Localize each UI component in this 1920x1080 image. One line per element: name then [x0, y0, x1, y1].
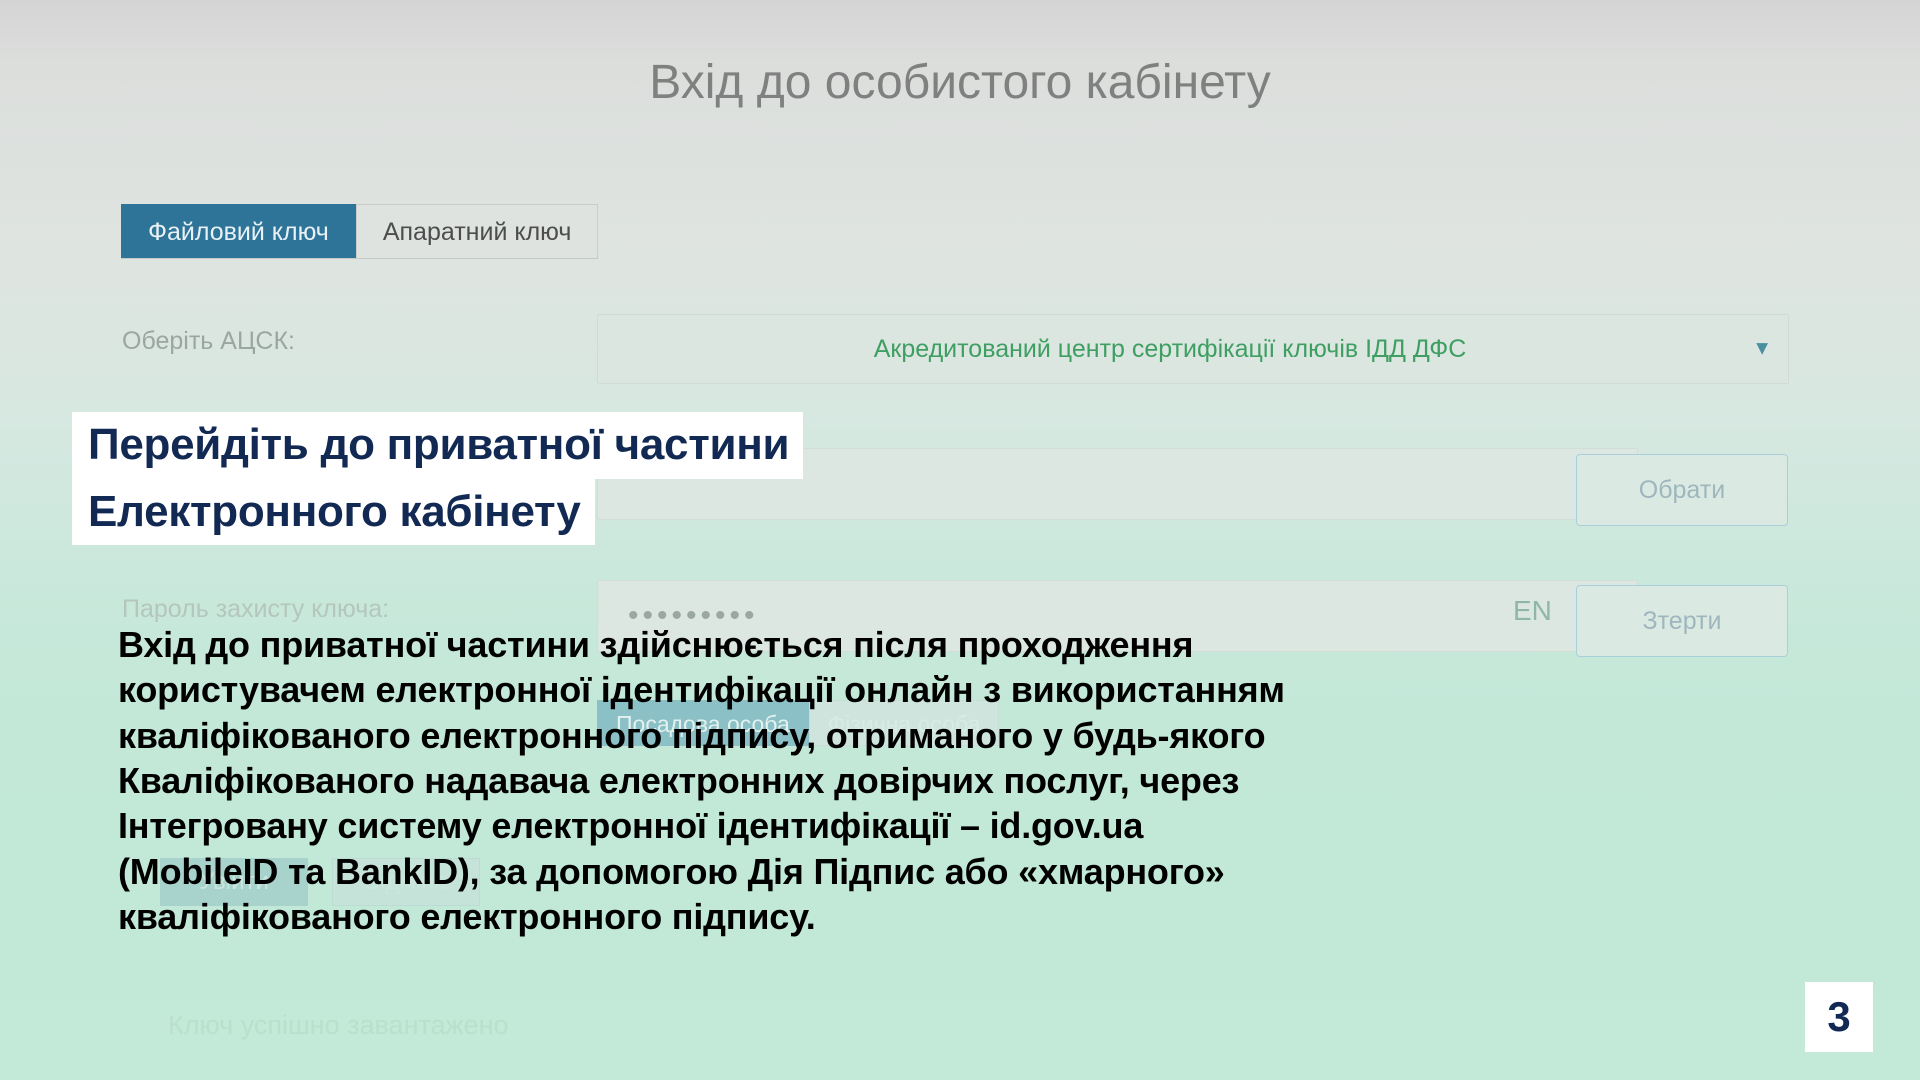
- callout-body: Вхід до приватної частини здійснюється п…: [118, 622, 1858, 940]
- callout-body-line: (MobileID та BankID), за допомогою Дія П…: [118, 849, 1858, 894]
- callout-body-line: кваліфікованого електронного підпису, от…: [118, 713, 1858, 758]
- callout-heading-line: Перейдіть до приватної частини: [72, 412, 803, 479]
- callout-body-line: Інтегровану систему електронної ідентифі…: [118, 803, 1858, 848]
- callout-heading: Перейдіть до приватної частини Електронн…: [72, 412, 803, 545]
- slide-annotations: Перейдіть до приватної частини Електронн…: [0, 0, 1920, 1080]
- callout-body-line: Вхід до приватної частини здійснюється п…: [118, 622, 1858, 667]
- callout-body-line: Кваліфікованого надавача електронних дов…: [118, 758, 1858, 803]
- callout-heading-line: Електронного кабінету: [72, 479, 595, 546]
- callout-body-line: користувачем електронної ідентифікації о…: [118, 667, 1858, 712]
- page-number-badge: 3: [1805, 982, 1873, 1052]
- callout-body-line: кваліфікованого електронного підпису.: [118, 894, 1858, 939]
